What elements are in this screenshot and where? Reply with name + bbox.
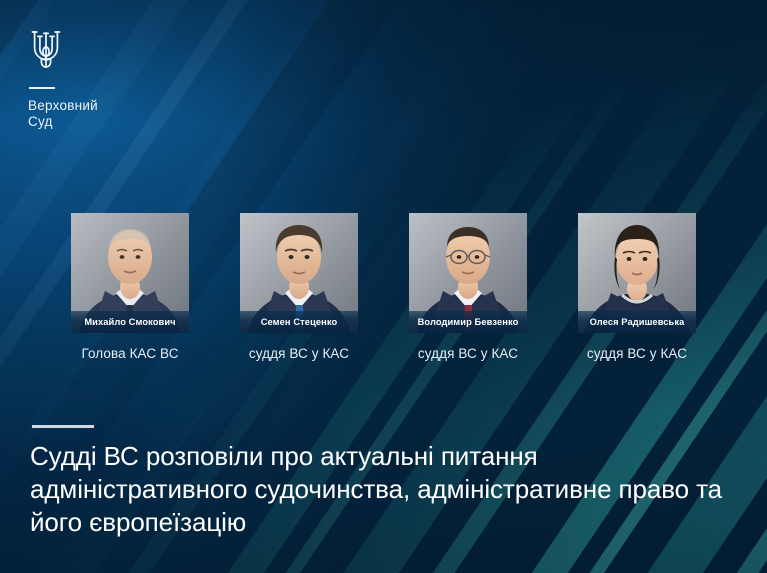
judge-card[interactable]: Володимир Бевзенко суддя ВС у КАС xyxy=(409,213,527,361)
judge-role: суддя ВС у КАС xyxy=(409,346,527,361)
brand-divider xyxy=(29,87,55,89)
judge-card[interactable]: Олеся Радишевська суддя ВС у КАС xyxy=(578,213,696,361)
judge-card[interactable]: Михайло Смокович Голова КАС ВС xyxy=(71,213,189,361)
judge-name-badge: Володимир Бевзенко xyxy=(409,311,527,333)
judge-role: суддя ВС у КАС xyxy=(578,346,696,361)
banner-canvas: Верховний Суд xyxy=(0,0,767,573)
ukraine-trident-icon xyxy=(28,27,64,73)
judge-portrait: Володимир Бевзенко xyxy=(409,213,527,333)
judge-role: суддя ВС у КАС xyxy=(240,346,358,361)
brand-title: Верховний Суд xyxy=(28,98,148,130)
judge-role: Голова КАС ВС xyxy=(71,346,189,361)
judge-name-badge: Олеся Радишевська xyxy=(578,311,696,333)
brand-logo: Верховний Суд xyxy=(28,27,148,130)
headline-text: Судді ВС розповіли про актуальні питання… xyxy=(30,440,736,539)
headline-divider xyxy=(32,425,94,428)
judge-portrait: Михайло Смокович xyxy=(71,213,189,333)
judge-portrait: Олеся Радишевська xyxy=(578,213,696,333)
judge-name-badge: Семен Стеценко xyxy=(240,311,358,333)
judge-name-badge: Михайло Смокович xyxy=(71,311,189,333)
judge-card[interactable]: Семен Стеценко суддя ВС у КАС xyxy=(240,213,358,361)
judge-portrait: Семен Стеценко xyxy=(240,213,358,333)
judges-row: Михайло Смокович Голова КАС ВС xyxy=(0,213,767,361)
